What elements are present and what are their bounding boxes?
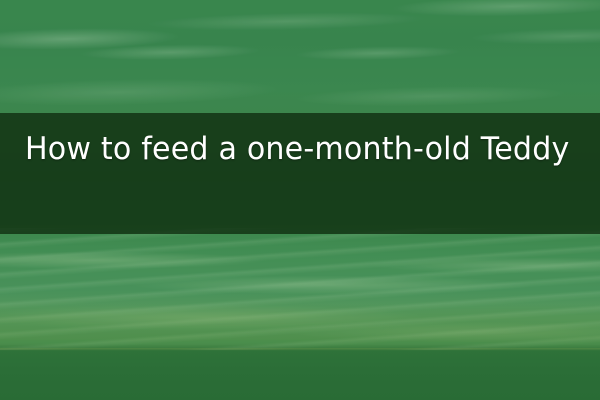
title-card: How to feed a one-month-old Teddy xyxy=(0,0,600,400)
page-title: How to feed a one-month-old Teddy xyxy=(25,130,571,169)
title-overlay-band: How to feed a one-month-old Teddy xyxy=(0,113,600,234)
